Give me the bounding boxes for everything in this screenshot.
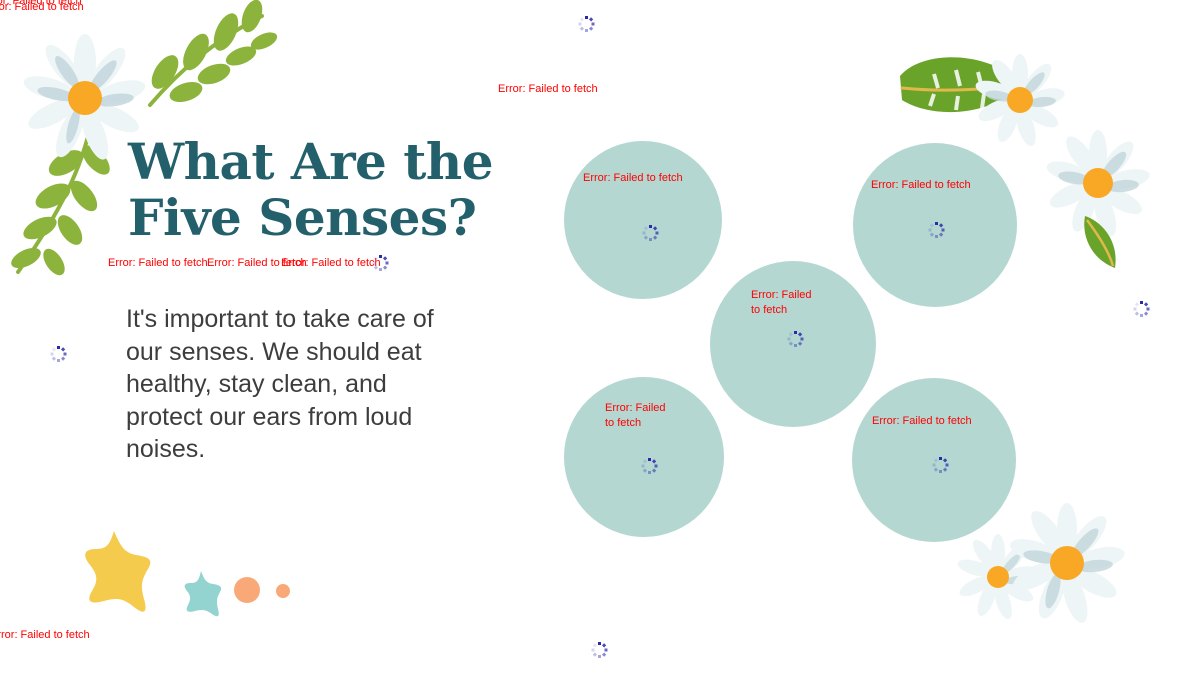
sense-circle-5-error: Error: Failed to fetch: [872, 414, 972, 429]
error-label-top-left-2: Error: Failed to fetch: [0, 0, 84, 15]
sense-circle-4-error: Error: Failed to fetch: [605, 401, 671, 431]
orange-dot-large: [234, 577, 260, 603]
sense-circle-2-spinner: [928, 222, 944, 238]
slide-canvas: What Are the Five Senses? It's important…: [0, 0, 1200, 675]
orange-dot-small: [276, 584, 290, 598]
loading-spinner-bottom-center: [591, 642, 607, 658]
loading-spinner-right-mid: [1133, 301, 1149, 317]
loading-spinner-under-title: [372, 255, 388, 271]
sense-circle-3-spinner: [787, 331, 803, 347]
sense-circle-1-error: Error: Failed to fetch: [583, 171, 683, 186]
sense-circle-4[interactable]: Error: Failed to fetch: [564, 377, 724, 537]
bottom-right-daisies-decoration: [955, 515, 1135, 625]
page-title: What Are the Five Senses?: [128, 134, 548, 246]
sense-circle-1[interactable]: Error: Failed to fetch: [564, 141, 722, 299]
loading-spinner-left-mid: [50, 346, 66, 362]
sense-circle-5[interactable]: Error: Failed to fetch: [852, 378, 1016, 542]
error-label-top-center: Error: Failed to fetch: [498, 82, 598, 97]
teal-star-icon: [185, 571, 221, 616]
yellow-star-icon: [85, 531, 150, 612]
loading-spinner-top-center: [578, 16, 594, 32]
sense-circle-1-spinner: [642, 225, 658, 241]
error-label-under-title-1: Error: Failed to fetch: [108, 256, 208, 271]
sense-circle-2-error: Error: Failed to fetch: [871, 178, 971, 193]
sense-circle-4-spinner: [641, 458, 657, 474]
error-label-bottom-left: Error: Failed to fetch: [0, 628, 90, 643]
stars-and-dots-decoration: [70, 525, 310, 625]
error-label-under-title-3: Error: Failed to fetch: [281, 256, 381, 271]
sense-circle-3[interactable]: Error: Failed to fetch: [710, 261, 876, 427]
body-paragraph: It's important to take care of our sense…: [126, 303, 446, 466]
sense-circle-5-spinner: [932, 457, 948, 473]
sense-circle-2[interactable]: Error: Failed to fetch: [853, 143, 1017, 307]
sense-circle-3-error: Error: Failed to fetch: [751, 288, 817, 318]
